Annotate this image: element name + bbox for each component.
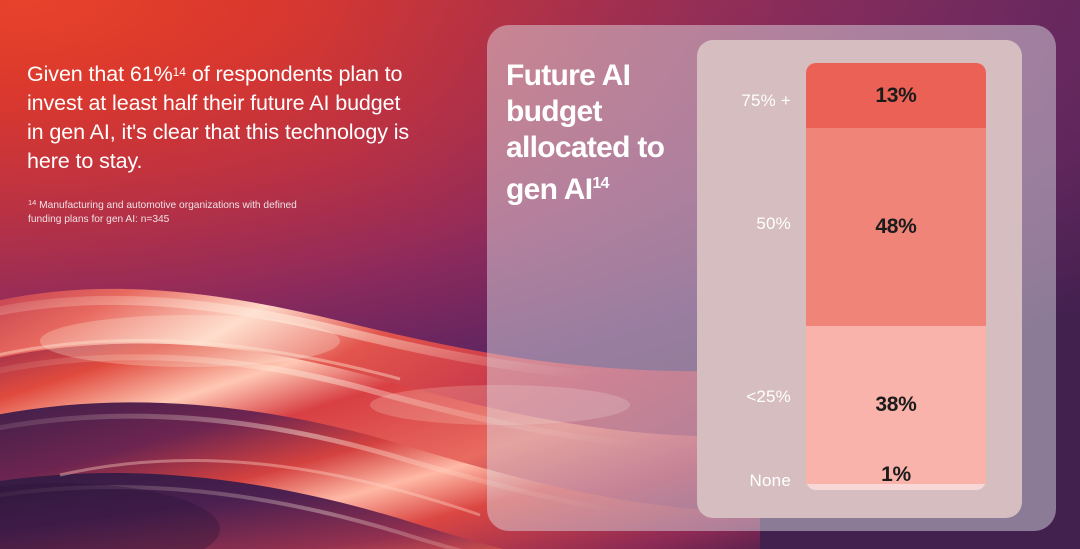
stacked-bar: 13% 48% 38% 1% xyxy=(806,63,986,490)
chart-title: Future AI budget allocated to gen AI14 xyxy=(506,58,691,208)
chart-title-footnote-marker: 14 xyxy=(592,175,608,192)
bar-value-none: 1% xyxy=(881,463,911,487)
category-label-75-plus: 75% + xyxy=(741,91,791,111)
bar-segment-under-25[interactable]: 38% xyxy=(806,326,986,484)
bar-segment-75-plus[interactable]: 13% xyxy=(806,63,986,128)
footnote: 14 Manufacturing and automotive organiza… xyxy=(28,196,328,227)
category-label-50: 50% xyxy=(756,214,791,234)
bar-value-50: 48% xyxy=(875,215,916,239)
category-label-none: None xyxy=(750,471,791,491)
bar-chart: 75% + 50% <25% None 13% 48% 38% 1% xyxy=(697,40,1022,518)
chart-title-text: Future AI budget allocated to gen AI xyxy=(506,59,664,206)
lead-footnote-marker: 14 xyxy=(173,65,186,79)
footnote-text: Manufacturing and automotive organizatio… xyxy=(28,200,297,225)
lead-paragraph: Given that 61%14 of respondents plan to … xyxy=(27,58,419,176)
slide-canvas: Given that 61%14 of respondents plan to … xyxy=(0,0,1080,549)
bar-value-under-25: 38% xyxy=(875,393,916,417)
lead-text-start: Given that 61% xyxy=(27,62,173,86)
category-label-under-25: <25% xyxy=(746,387,791,407)
bar-segment-50[interactable]: 48% xyxy=(806,128,986,326)
bar-segment-none[interactable]: 1% xyxy=(806,484,986,490)
bar-value-75-plus: 13% xyxy=(875,84,916,108)
